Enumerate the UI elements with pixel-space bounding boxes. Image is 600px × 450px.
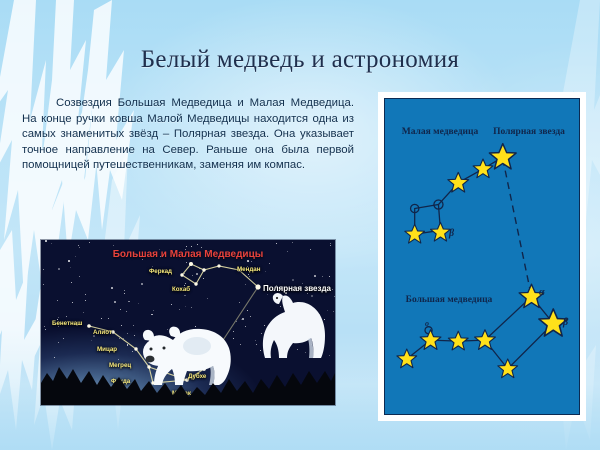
star-label: Кохаб <box>172 286 190 293</box>
diagram-graphics <box>385 99 579 414</box>
star-label: Феркад <box>149 268 172 275</box>
star-label: Бенетнаш <box>52 320 82 327</box>
diagram-label-ursa-major: Большая медведица <box>405 295 493 307</box>
star-label: Мендан <box>237 266 260 273</box>
diagram-label-polaris: Полярная звезда <box>491 127 567 139</box>
body-paragraph: Созвездия Большая Медведица и Малая Медв… <box>22 96 354 174</box>
constellation-diagram: Малая медведица Полярная звезда Большая … <box>384 98 580 415</box>
constellation-diagram-frame: Малая медведица Полярная звезда Большая … <box>378 92 586 421</box>
star-label: Алиот <box>93 329 112 336</box>
greek-label-beta-major: β <box>563 317 568 328</box>
diagram-label-ursa-minor: Малая медведица <box>401 127 479 139</box>
greek-label-alpha-major: α <box>539 287 545 298</box>
slide-canvas: Белый медведь и астрономия Созвездия Бол… <box>0 0 600 450</box>
constellation-photo: Большая и Малая Медведицы <box>41 240 335 405</box>
tree-silhouettes <box>41 349 335 405</box>
greek-label-omicron-major: o <box>425 319 429 328</box>
greek-label-beta-minor: β <box>449 228 454 239</box>
page-title: Белый медведь и астрономия <box>0 46 600 74</box>
